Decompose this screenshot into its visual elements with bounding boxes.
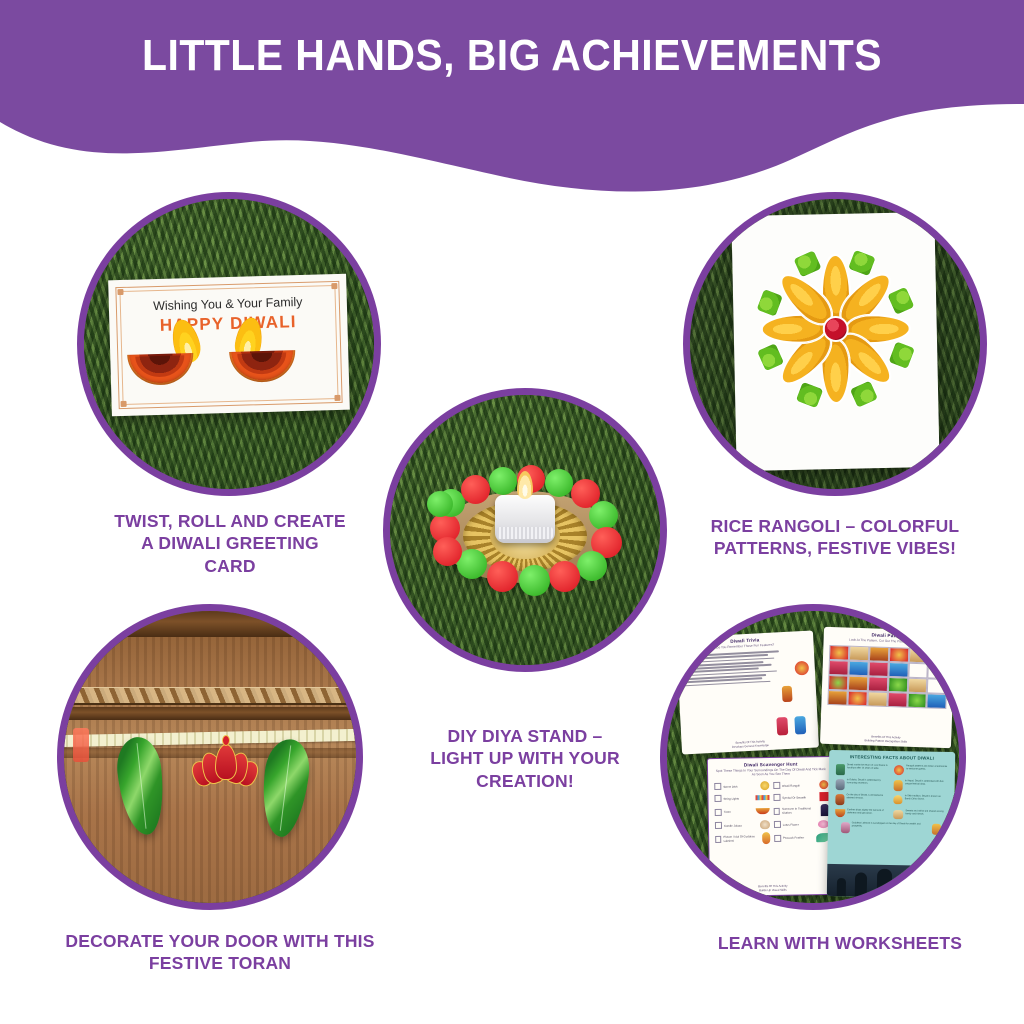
- checkbox[interactable]: [715, 822, 722, 829]
- photo-circle-rice-rangoli[interactable]: [683, 192, 987, 496]
- worksheet-title: INTERESTING FACTS ABOUT DIWALI: [829, 754, 955, 761]
- rangoli-green-square: [847, 379, 878, 409]
- photo-circle-greeting-card[interactable]: Wishing You & Your Family HAPPY DIWALI: [77, 192, 381, 496]
- caption-line: FESTIVE TORAN: [20, 952, 420, 974]
- caption-line: LIGHT UP WITH YOUR: [375, 747, 675, 769]
- toran-side-ornament: [73, 728, 89, 762]
- caption-line: TWIST, ROLL AND CREATE: [40, 510, 420, 532]
- worksheet-icon: [794, 716, 806, 735]
- worksheet-icon: [776, 717, 788, 736]
- caption-line: CREATION!: [375, 770, 675, 792]
- worksheet-subtitle: Spot These Things In Your Surroundings O…: [708, 767, 834, 777]
- checkbox[interactable]: [774, 834, 781, 841]
- led-flame-icon: [517, 471, 533, 499]
- caption-worksheets: LEARN WITH WORKSHEETS: [690, 932, 990, 954]
- checklist-label: Symbol Or Swastik: [782, 795, 806, 799]
- door-panel-edge: [64, 707, 356, 720]
- rangoli-center-dot: [821, 315, 848, 342]
- pattern-grid: [827, 644, 948, 708]
- header-banner: [0, 0, 1024, 200]
- tea-light-ridges: [497, 527, 552, 539]
- checkbox[interactable]: [773, 794, 780, 801]
- rangoli-green-square: [791, 248, 822, 278]
- caption-line: CARD: [40, 555, 420, 577]
- worksheet-diwali-trivia: Diwali Trivia Do You Remember These Fun …: [676, 631, 819, 755]
- caption-line: A DIWALI GREETING: [40, 532, 420, 554]
- caption-line: DECORATE YOUR DOOR WITH THIS: [20, 930, 420, 952]
- checkbox[interactable]: [774, 821, 781, 828]
- diya-stand-photo: [390, 395, 660, 665]
- worksheet-footer-sub: Builds Up Visual Skills: [710, 887, 836, 893]
- rangoli-paper-sheet: [731, 211, 939, 470]
- caption-line: DIY DIYA STAND –: [375, 725, 675, 747]
- caption-greeting-card: TWIST, ROLL AND CREATE A DIWALI GREETING…: [40, 510, 420, 577]
- door-panel-edge: [64, 611, 356, 637]
- lotus-motif: [192, 742, 258, 788]
- carved-rope-moulding: [64, 687, 356, 705]
- caption-line: RICE RANGOLI – COLORFUL: [660, 515, 1010, 537]
- rangoli-green-square: [793, 380, 823, 409]
- caption-rice-rangoli: RICE RANGOLI – COLORFUL PATTERNS, FESTIV…: [660, 515, 1010, 560]
- facts-grid: Diwali marks the return of Lord Rama to …: [834, 764, 947, 835]
- led-tea-light: [495, 495, 555, 543]
- checkbox[interactable]: [773, 782, 780, 789]
- rangoli-green-square: [846, 248, 876, 277]
- caption-festive-toran: DECORATE YOUR DOOR WITH THIS FESTIVE TOR…: [20, 930, 420, 975]
- caption-line: LEARN WITH WORKSHEETS: [690, 932, 990, 954]
- photo-circle-festive-toran[interactable]: [57, 604, 363, 910]
- checklist-label: String Lights: [723, 796, 739, 800]
- photo-circle-diya-stand[interactable]: [383, 388, 667, 672]
- lotus-petal-center: [215, 744, 237, 780]
- checkbox[interactable]: [773, 807, 780, 814]
- rangoli-green-square: [885, 285, 915, 316]
- worksheet-footer: Benefits Of This Activity Building Patte…: [820, 732, 952, 745]
- checkbox[interactable]: [714, 795, 721, 802]
- checklist-label: Lotus Flower: [783, 822, 799, 826]
- rice-rangoli-photo: [690, 199, 980, 489]
- checkbox[interactable]: [714, 783, 721, 790]
- diwali-greeting-card: Wishing You & Your Family HAPPY DIWALI: [108, 274, 350, 417]
- rangoli-green-square: [754, 287, 783, 317]
- checklist-label: Diwali Rangoli: [782, 783, 800, 787]
- checklist-label: Someone In Traditional Clothes: [782, 806, 819, 815]
- card-corner-dot: [331, 283, 337, 289]
- worksheet-interesting-facts: INTERESTING FACTS ABOUT DIWALI Diwali ma…: [826, 750, 954, 898]
- rangoli-green-square: [886, 339, 915, 369]
- checkbox[interactable]: [715, 835, 721, 842]
- greeting-card-photo: Wishing You & Your Family HAPPY DIWALI: [84, 199, 374, 489]
- checklist-label: Peacock Feather: [783, 835, 804, 839]
- checkbox[interactable]: [715, 808, 722, 815]
- checklist-label: Toran: [724, 810, 731, 814]
- worksheets-photo: Diwali Trivia Do You Remember These Fun …: [667, 611, 959, 903]
- worksheet-icon: [782, 686, 793, 703]
- poster-root: LITTLE HANDS, BIG ACHIEVEMENTS Wishing Y…: [0, 0, 1024, 1024]
- worksheet-scavenger-hunt: Diwali Scavenger Hunt Spot These Things …: [707, 756, 837, 897]
- checklist-label: Picture / Idol Of Goddess Lakshmi: [723, 834, 760, 843]
- rangoli-green-square: [755, 341, 785, 372]
- caption-line: PATTERNS, FESTIVE VIBES!: [660, 537, 1010, 559]
- temple-skyline-silhouette: [826, 864, 952, 898]
- checklist-label: Candle Jalaao: [724, 823, 742, 827]
- checklist-label: Sweet Dish: [723, 784, 737, 788]
- scavenger-checklist: Sweet Dish Diwali Rangoli String Lights …: [714, 780, 829, 845]
- card-corner-dot: [117, 289, 123, 295]
- worksheet-diwali-patterns: Diwali Patterns Look At The Pattern, Cut…: [820, 626, 955, 747]
- worksheet-footer: Benefits Of This Activity Builds Up Visu…: [710, 883, 836, 893]
- page-title: LITTLE HANDS, BIG ACHIEVEMENTS: [36, 31, 988, 81]
- header-wave-shape: [0, 0, 1024, 200]
- caption-diya-stand: DIY DIYA STAND – LIGHT UP WITH YOUR CREA…: [375, 725, 675, 792]
- festive-toran-photo: [64, 611, 356, 903]
- photo-circle-worksheets[interactable]: Diwali Trivia Do You Remember These Fun …: [660, 604, 966, 910]
- card-corner-dot: [121, 401, 127, 407]
- card-corner-dot: [334, 396, 340, 402]
